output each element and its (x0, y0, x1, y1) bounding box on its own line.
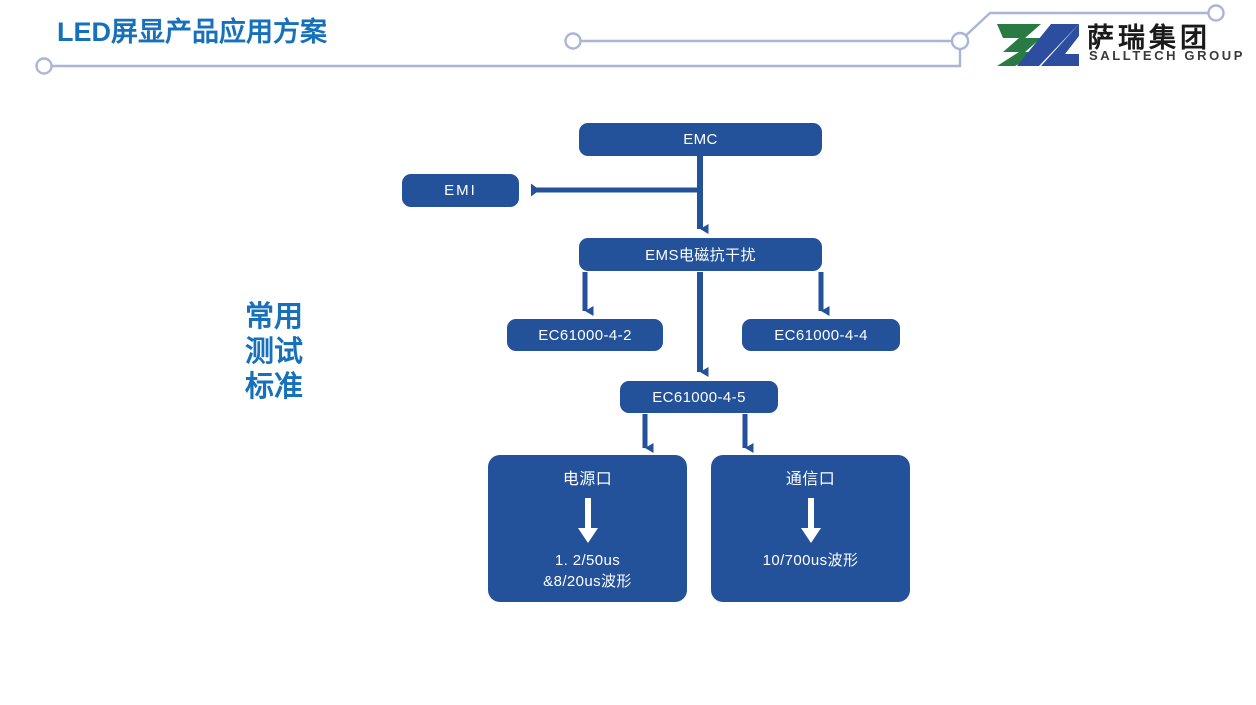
flow-node-power-port[interactable]: 电源口 1. 2/50us &8/20us波形 (488, 455, 687, 602)
comm-port-waveform: 10/700us波形 (763, 550, 859, 571)
comm-port-down-arrow (800, 498, 822, 544)
power-port-title: 电源口 (563, 469, 612, 491)
power-port-down-arrow (577, 498, 599, 544)
flow-node-ems[interactable]: EMS电磁抗干扰 (579, 238, 822, 271)
flow-node-ec61000-4-4[interactable]: EC61000-4-4 (742, 319, 900, 351)
flow-node-ec61000-4-2[interactable]: EC61000-4-2 (507, 319, 663, 351)
flow-node-emi[interactable]: EMI (402, 174, 519, 207)
flow-node-ec61000-4-5[interactable]: EC61000-4-5 (620, 381, 778, 413)
flow-node-emc[interactable]: EMC (579, 123, 822, 156)
flow-node-comm-port[interactable]: 通信口 10/700us波形 (711, 455, 910, 602)
slide-root: LED屏显产品应用方案 萨瑞集团 SALLTECH GROUP 常用 测试 标准 (0, 0, 1256, 705)
comm-port-title: 通信口 (786, 469, 835, 491)
power-port-waveform: 1. 2/50us &8/20us波形 (543, 550, 632, 592)
